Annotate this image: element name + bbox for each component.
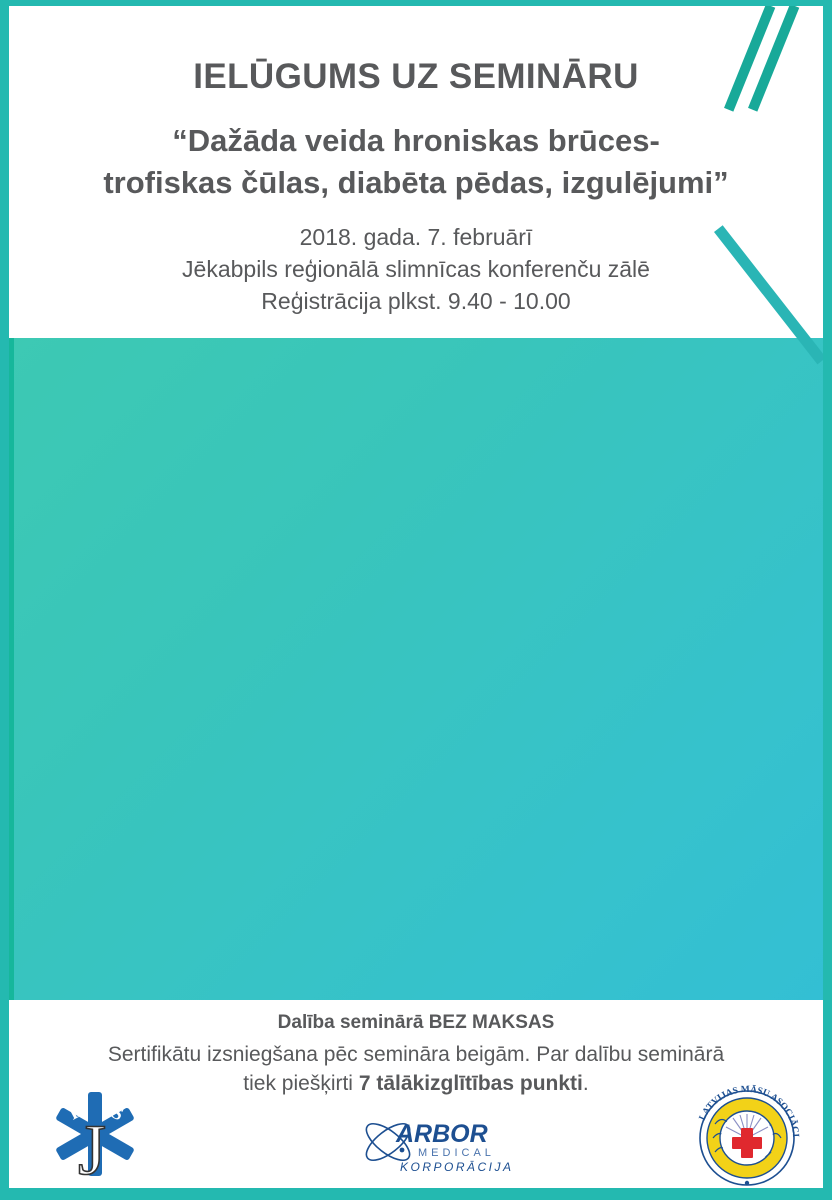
svg-text:ARBOR: ARBOR	[395, 1120, 488, 1148]
certificate-note-line-1: Sertifikātu izsniegšana pēc semināra bei…	[108, 1043, 724, 1066]
svg-text:KORPORĀCIJA: KORPORĀCIJA	[400, 1160, 514, 1174]
page-title: IELŪGUMS UZ SEMINĀRU	[0, 57, 832, 97]
seminar-invitation-poster: IELŪGUMS UZ SEMINĀRU “Dažāda veida hroni…	[0, 0, 832, 1200]
programme-panel	[0, 338, 832, 1000]
seminar-subtitle-line-1: “Dažāda veida hroniskas brūces-	[44, 120, 788, 162]
certificate-note-line-2: tiek piešķirti	[243, 1072, 359, 1095]
participation-fee-note: Dalība seminārā BEZ MAKSAS	[30, 1012, 802, 1034]
certificate-note-end: .	[583, 1072, 589, 1095]
svg-text:MEDICAL: MEDICAL	[418, 1147, 495, 1159]
latvijas-masu-asociacija-logo: LATVIJAS MĀSU ASOCIĀCIJA	[688, 1082, 806, 1194]
frame-left-border	[0, 0, 9, 1200]
frame-top-border	[0, 0, 832, 6]
jrs-star-of-life-logo: R S J	[40, 1088, 150, 1188]
certificate-points: 7 tālākizglītības punkti	[359, 1072, 583, 1095]
svg-text:J: J	[78, 1110, 106, 1188]
event-meta: 2018. gada. 7. februārī Jēkabpils reģion…	[44, 222, 788, 318]
arbor-medical-logo: ARBOR MEDICAL KORPORĀCIJA	[358, 1110, 528, 1180]
frame-right-border	[823, 0, 832, 1200]
frame-bottom-border	[0, 1188, 832, 1200]
event-registration: Reģistrācija plkst. 9.40 - 10.00	[44, 286, 788, 318]
header-section: IELŪGUMS UZ SEMINĀRU “Dažāda veida hroni…	[0, 0, 832, 338]
seminar-subtitle: “Dažāda veida hroniskas brūces- trofiska…	[44, 120, 788, 204]
event-venue: Jēkabpils reģionālā slimnīcas konferenču…	[44, 254, 788, 286]
event-date: 2018. gada. 7. februārī	[44, 222, 788, 254]
seminar-subtitle-line-2: trofiskas čūlas, diabēta pēdas, izgulēju…	[44, 162, 788, 204]
